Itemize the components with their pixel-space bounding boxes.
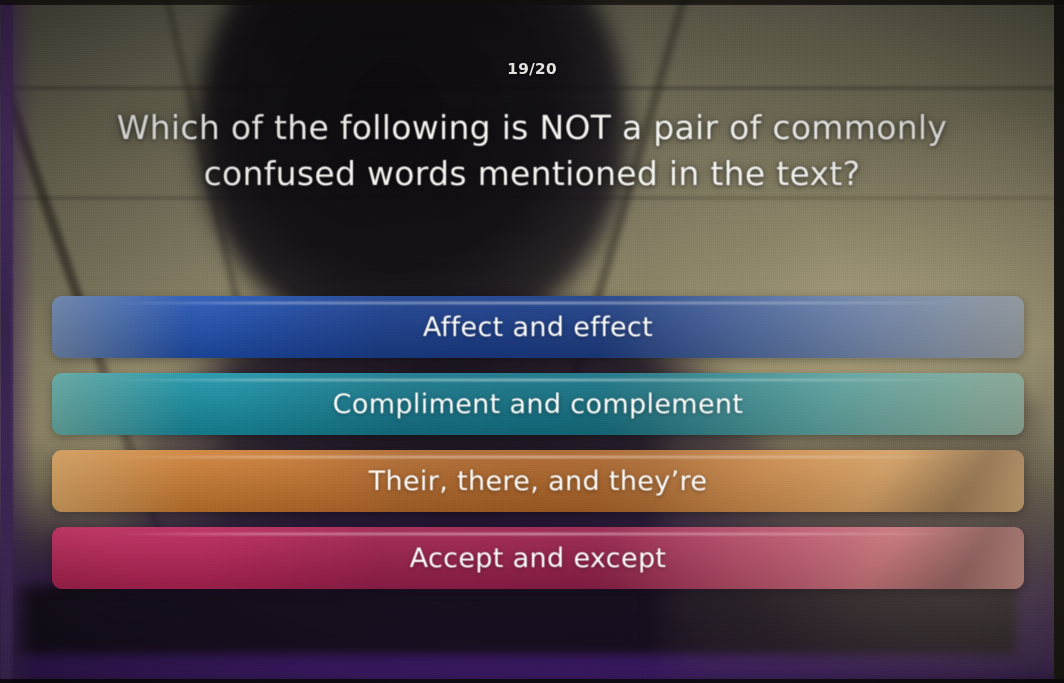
screen-edge-right xyxy=(1054,0,1064,683)
answer-option-4[interactable]: Accept and except xyxy=(52,527,1024,589)
progress-badge: 19/20 xyxy=(494,57,570,82)
answer-option-3-label: Their, there, and they’re xyxy=(369,466,708,497)
screen-edge-top xyxy=(0,0,1064,5)
specular-highlight xyxy=(110,379,965,381)
glare-overlay-left xyxy=(52,450,188,512)
answer-option-1-label: Affect and effect xyxy=(423,312,653,343)
glare-overlay xyxy=(596,296,1024,358)
screen-edge-bottom xyxy=(0,679,1064,683)
answer-option-4-label: Accept and except xyxy=(410,543,667,574)
answer-option-2-label: Compliment and complement xyxy=(333,389,744,420)
answer-option-3[interactable]: Their, there, and they’re xyxy=(52,450,1024,512)
quiz-screen-photo: 19/20 Which of the following is NOT a pa… xyxy=(0,0,1064,683)
diagonal-shadow xyxy=(846,450,1024,512)
screen-edge-left-glow xyxy=(10,0,36,683)
answer-option-1[interactable]: Affect and effect xyxy=(52,296,1024,358)
specular-highlight xyxy=(110,533,965,535)
question-text: Which of the following is NOT a pair of … xyxy=(72,105,992,197)
quiz-content: 19/20 Which of the following is NOT a pa… xyxy=(0,0,1064,683)
answer-option-2[interactable]: Compliment and complement xyxy=(52,373,1024,435)
glare-overlay-left xyxy=(52,296,188,358)
specular-highlight xyxy=(110,302,965,304)
specular-highlight xyxy=(110,456,965,458)
answer-options-list: Affect and effect Compliment and complem… xyxy=(52,296,1024,589)
glare-overlay-left xyxy=(52,373,188,435)
diagonal-shadow xyxy=(846,527,1024,589)
